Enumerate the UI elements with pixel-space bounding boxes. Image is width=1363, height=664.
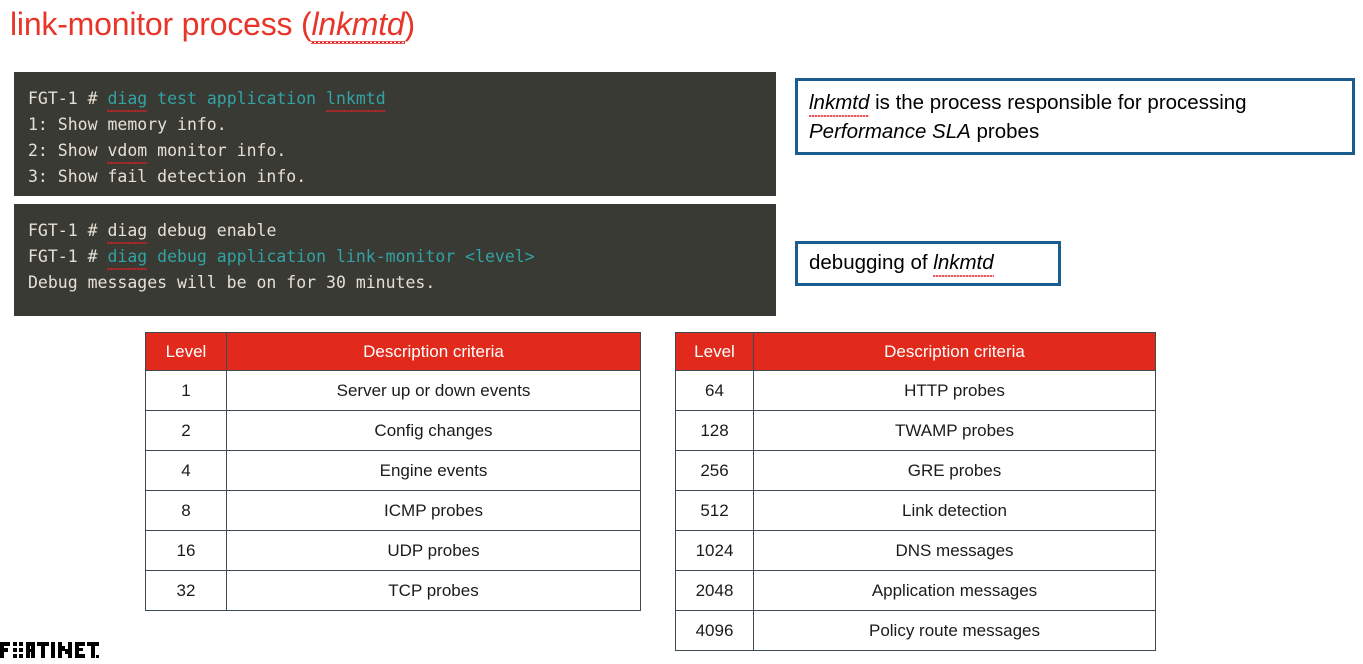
table-header-row: Level Description criteria [676, 333, 1156, 371]
terminal-text: debug enable [147, 221, 276, 240]
terminal-line: 1: Show memory info. [28, 112, 776, 138]
table-row: 1Server up or down events [146, 371, 641, 411]
terminal-line: 2: Show vdom monitor info. [28, 138, 776, 164]
cell-level: 256 [676, 451, 754, 491]
callout-lnkmtd-description: lnkmtd is the process responsible for pr… [795, 78, 1355, 155]
table-row: 2Config changes [146, 411, 641, 451]
terminal-line: 3: Show fail detection info. [28, 164, 776, 190]
cell-description: TWAMP probes [754, 411, 1156, 451]
callout-text: probes [971, 120, 1039, 143]
cell-level: 512 [676, 491, 754, 531]
cell-description: ICMP probes [227, 491, 641, 531]
cell-level: 2048 [676, 571, 754, 611]
terminal-text: FGT-1 # [28, 247, 107, 266]
cell-description: GRE probes [754, 451, 1156, 491]
terminal-text: debug application link-monitor <level> [147, 247, 534, 266]
table-row: 64HTTP probes [676, 371, 1156, 411]
terminal-text: lnkmtd [326, 86, 386, 112]
terminal-block-test-application: FGT-1 # diag test application lnkmtd1: S… [14, 72, 776, 196]
cell-level: 64 [676, 371, 754, 411]
cell-level: 1024 [676, 531, 754, 571]
cell-description: UDP probes [227, 531, 641, 571]
cell-description: Server up or down events [227, 371, 641, 411]
table-header-row: Level Description criteria [146, 333, 641, 371]
column-header-level: Level [146, 333, 227, 371]
terminal-text: diag [107, 244, 147, 270]
column-header-level: Level [676, 333, 754, 371]
callout-debugging-lnkmtd: debugging of lnkmtd [795, 241, 1061, 286]
terminal-text: test application [147, 89, 326, 108]
cell-level: 32 [146, 571, 227, 611]
terminal-line: FGT-1 # diag test application lnkmtd [28, 86, 776, 112]
terminal-text: 2: Show [28, 141, 107, 160]
table-body: 64HTTP probes128TWAMP probes256GRE probe… [676, 371, 1156, 651]
fortinet-logo [0, 638, 100, 664]
page-title: link-monitor process (lnkmtd) [10, 6, 415, 43]
cell-description: Engine events [227, 451, 641, 491]
table-row: 128TWAMP probes [676, 411, 1156, 451]
debug-level-table-right: Level Description criteria 64HTTP probes… [675, 332, 1156, 651]
terminal-text: FGT-1 # [28, 89, 107, 108]
column-header-description: Description criteria [754, 333, 1156, 371]
cell-description: DNS messages [754, 531, 1156, 571]
column-header-description: Description criteria [227, 333, 641, 371]
terminal-text: FGT-1 # [28, 221, 107, 240]
debug-level-table-left: Level Description criteria 1Server up or… [145, 332, 641, 611]
page-title-process-name: lnkmtd [311, 6, 404, 43]
terminal-text: 3: Show fail detection info. [28, 167, 306, 186]
cell-description: Application messages [754, 571, 1156, 611]
table-row: 4096Policy route messages [676, 611, 1156, 651]
table-row: 1024DNS messages [676, 531, 1156, 571]
table-body: 1Server up or down events2Config changes… [146, 371, 641, 611]
table-row: 256GRE probes [676, 451, 1156, 491]
cell-level: 128 [676, 411, 754, 451]
terminal-text: diag [107, 86, 147, 112]
cell-description: TCP probes [227, 571, 641, 611]
terminal-text: 1: Show memory info. [28, 115, 227, 134]
callout-text: lnkmtd [809, 88, 869, 117]
callout-text: lnkmtd [933, 248, 993, 277]
terminal-line: Debug messages will be on for 30 minutes… [28, 270, 776, 296]
cell-level: 2 [146, 411, 227, 451]
cell-description: Config changes [227, 411, 641, 451]
table-row: 2048Application messages [676, 571, 1156, 611]
terminal-text: vdom [107, 138, 147, 164]
table-row: 16UDP probes [146, 531, 641, 571]
table-row: 32TCP probes [146, 571, 641, 611]
terminal-text: Debug messages will be on for 30 minutes… [28, 273, 435, 292]
terminal-line: FGT-1 # diag debug enable [28, 218, 776, 244]
terminal-text: diag [107, 218, 147, 244]
terminal-text: monitor info. [147, 141, 286, 160]
page-title-suffix: ) [405, 6, 415, 42]
cell-level: 8 [146, 491, 227, 531]
table-row: 8ICMP probes [146, 491, 641, 531]
cell-level: 1 [146, 371, 227, 411]
cell-description: HTTP probes [754, 371, 1156, 411]
callout-text: debugging of [809, 251, 933, 274]
callout-text: Performance SLA [809, 120, 971, 143]
terminal-block-debug-application: FGT-1 # diag debug enableFGT-1 # diag de… [14, 204, 776, 316]
terminal-line: FGT-1 # diag debug application link-moni… [28, 244, 776, 270]
page-title-prefix: link-monitor process ( [10, 6, 311, 42]
cell-level: 4096 [676, 611, 754, 651]
cell-description: Policy route messages [754, 611, 1156, 651]
cell-description: Link detection [754, 491, 1156, 531]
cell-level: 4 [146, 451, 227, 491]
cell-level: 16 [146, 531, 227, 571]
table-row: 512Link detection [676, 491, 1156, 531]
table-row: 4Engine events [146, 451, 641, 491]
callout-text: is the process responsible for processin… [869, 91, 1246, 114]
